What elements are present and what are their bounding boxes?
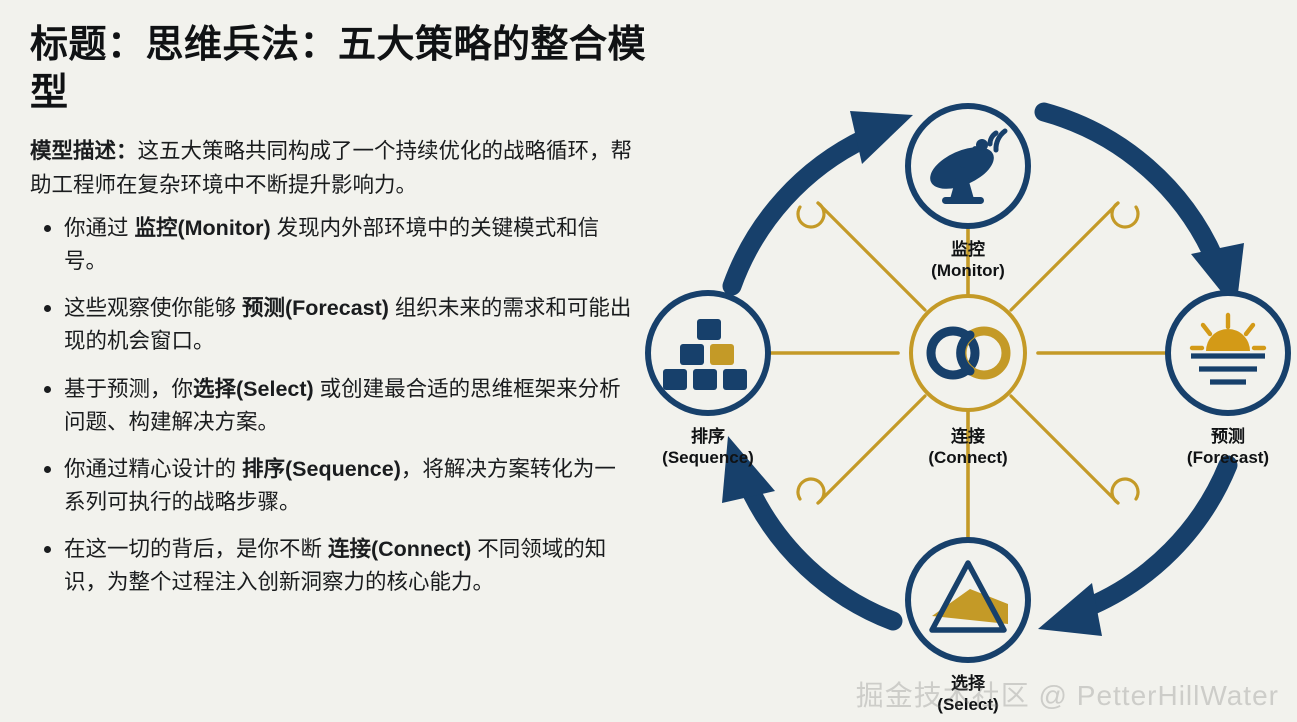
list-item: 你通过精心设计的 排序(Sequence)，将解决方案转化为一系列可执行的战略步… (40, 453, 632, 519)
hook-terminal-lower-left (798, 479, 824, 503)
cycle-arrow-monitor-to-forecast (1044, 112, 1244, 310)
forecast-label-en: (Forecast) (1187, 448, 1269, 467)
forecast-node-circle (1168, 293, 1288, 413)
cycle-arrow-forecast-to-select (1038, 465, 1228, 636)
list-item: 这些观察使你能够 预测(Forecast) 组织未来的需求和可能出现的机会窗口。 (40, 292, 632, 358)
list-item: 在这一切的背后，是你不断 连接(Connect) 不同领域的知识，为整个过程注入… (40, 533, 632, 599)
model-description-lead: 模型描述： (30, 139, 138, 163)
spoke-diagonal-lower-right (1011, 396, 1118, 503)
text-panel: 标题：思维兵法：五大策略的整合模型 模型描述：这五大策略共同构成了一个持续优化的… (0, 0, 660, 722)
diagram-node-select[interactable]: 选择 (Select) (908, 540, 1028, 714)
bullet-text-before: 你通过精心设计的 (64, 457, 242, 481)
list-item: 你通过 监控(Monitor) 发现内外部环境中的关键模式和信号。 (40, 212, 632, 278)
sequence-label-cn: 排序 (691, 426, 725, 446)
cycle-arrow-sequence-to-monitor (732, 111, 913, 286)
model-description: 模型描述：这五大策略共同构成了一个持续优化的战略循环，帮助工程师在复杂环境中不断… (30, 135, 638, 202)
forecast-label-cn: 预测 (1211, 426, 1245, 446)
bullet-strategy-name: 排序(Sequence) (242, 457, 401, 481)
hook-terminal-upper-left (798, 203, 824, 227)
cycle-diagram: 连接 (Connect) 监控 (Monitor) (640, 38, 1297, 722)
bullet-strategy-name: 监控(Monitor) (134, 216, 270, 240)
bullet-strategy-name: 选择(Select) (193, 377, 314, 401)
diagram-node-forecast[interactable]: 预测 (Forecast) (1168, 293, 1288, 467)
connect-label-cn: 连接 (951, 426, 985, 446)
spoke-diagonal-upper-left (818, 203, 925, 310)
bullet-strategy-name: 连接(Connect) (328, 537, 471, 561)
hook-terminal-upper-right (1112, 203, 1138, 227)
diagram-node-connect[interactable]: 连接 (Connect) (911, 296, 1025, 467)
sequence-label-en: (Sequence) (662, 448, 754, 467)
spoke-diagonal-upper-right (1011, 203, 1118, 310)
page-title: 标题：思维兵法：五大策略的整合模型 (30, 22, 646, 117)
bullet-text-before: 这些观察使你能够 (64, 296, 242, 320)
sequence-node-circle (648, 293, 768, 413)
bullet-strategy-name: 预测(Forecast) (242, 296, 389, 320)
select-label-en: (Select) (937, 695, 998, 714)
list-item: 基于预测，你选择(Select) 或创建最合适的思维框架来分析问题、构建解决方案… (40, 373, 632, 439)
bullet-text-before: 基于预测，你 (64, 377, 193, 401)
spoke-diagonal-lower-left (818, 396, 925, 503)
strategy-bullet-list: 你通过 监控(Monitor) 发现内外部环境中的关键模式和信号。 这些观察使你… (26, 212, 646, 599)
bullet-text-before: 在这一切的背后，是你不断 (64, 537, 328, 561)
connect-label-en: (Connect) (928, 448, 1007, 467)
hook-terminal-lower-right (1112, 479, 1138, 503)
diagram-node-sequence[interactable]: 排序 (Sequence) (648, 293, 768, 467)
bullet-text-before: 你通过 (64, 216, 134, 240)
diagram-node-monitor[interactable]: 监控 (Monitor) (908, 106, 1028, 280)
select-label-cn: 选择 (951, 673, 986, 693)
monitor-label-cn: 监控 (951, 239, 985, 259)
monitor-label-en: (Monitor) (931, 261, 1005, 280)
